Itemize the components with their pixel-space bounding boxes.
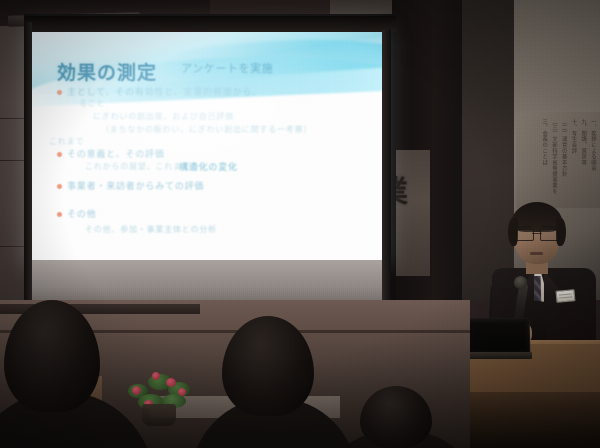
slide-title-runin: アンケートを実施 (181, 60, 273, 76)
slide-bullet: これまで (49, 136, 84, 147)
screen-right-edge (382, 30, 391, 308)
slide-bullet: （まちなかの賑わい、にぎわい創出に関する一考察） (101, 124, 312, 135)
name-badge (556, 289, 576, 303)
slide-title: 効果の測定 (57, 58, 157, 85)
slide-bullet: その意義と、その評価 (67, 147, 165, 160)
audience-head-center (206, 316, 342, 448)
glasses-icon (516, 229, 558, 240)
screen-left-edge (24, 22, 32, 314)
bullet-marker (57, 152, 62, 157)
slide-bullet: ること (79, 98, 105, 109)
audience-head-right (334, 386, 464, 448)
slide-bullet-highlight: 構造化の変化 (179, 160, 238, 173)
slide-bullet: その他、参加・事業主体との分析 (85, 224, 217, 235)
poster-column: 十、写生会評 (570, 119, 577, 203)
poster-column: （三）文部科学省後援事業を (550, 119, 557, 203)
poster-text-columns: 一、挨拶による開会 九、閉講、賞状等 十、写生会評 （二）運営の基本方針 （三）… (520, 116, 598, 206)
slide-bullet: その他 (67, 207, 96, 220)
poster-column: 九、閉講、賞状等 (580, 119, 587, 203)
bullet-marker (57, 184, 62, 189)
photograph-scene: 業 一、挨拶による開会 九、閉講、賞状等 十、写生会評 （二）運営の基本方針 （… (0, 0, 600, 448)
audience-head-left (0, 300, 194, 448)
slide-bullet: にぎわいの創出度、および自己評価 (93, 111, 234, 122)
poster-column: 一、挨拶による開会 (589, 119, 596, 203)
poster-column: 三、会長のことば (541, 119, 548, 203)
slide-bullet: 主として、その有効性と、定量的側面から、 (67, 85, 262, 98)
bullet-marker (57, 212, 62, 217)
bullet-marker (57, 90, 62, 95)
slide-content: 効果の測定 アンケートを実施 主として、その有効性と、定量的側面から、 ること … (31, 32, 382, 260)
slide-bullet: 事業者・来訪者からみての評価 (67, 179, 204, 192)
projected-slide: 効果の測定 アンケートを実施 主として、その有効性と、定量的側面から、 ること … (31, 32, 382, 260)
speaker-eyebrows (517, 226, 557, 228)
screen-top-edge (24, 16, 396, 32)
poster-column: （二）運営の基本方針 (560, 119, 567, 203)
speaker-mouth (530, 252, 543, 255)
